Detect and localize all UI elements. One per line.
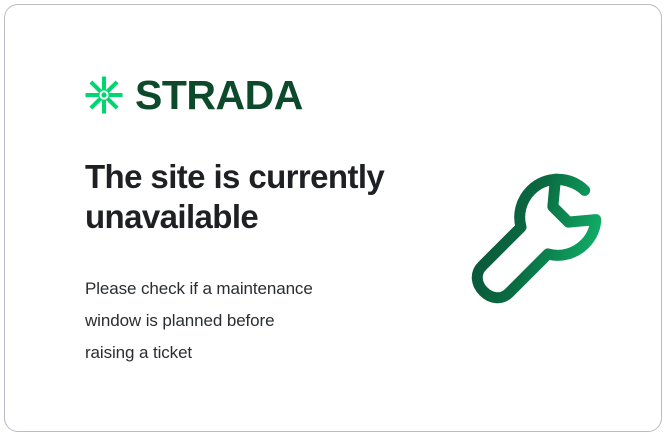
description-line: raising a ticket <box>85 337 415 369</box>
description-line: Please check if a maintenance <box>85 273 415 305</box>
page-description: Please check if a maintenance window is … <box>85 273 415 369</box>
strada-asterisk-icon <box>83 74 125 116</box>
wrench-icon <box>460 157 616 317</box>
description-line: window is planned before <box>85 305 415 337</box>
brand-wordmark: STRADA <box>135 75 303 116</box>
status-card: STRADA The site is currently unavailable… <box>4 4 662 432</box>
page-title: The site is currently unavailable <box>85 157 425 236</box>
maintenance-page: STRADA The site is currently unavailable… <box>0 0 666 436</box>
brand-logo: STRADA <box>83 73 303 117</box>
